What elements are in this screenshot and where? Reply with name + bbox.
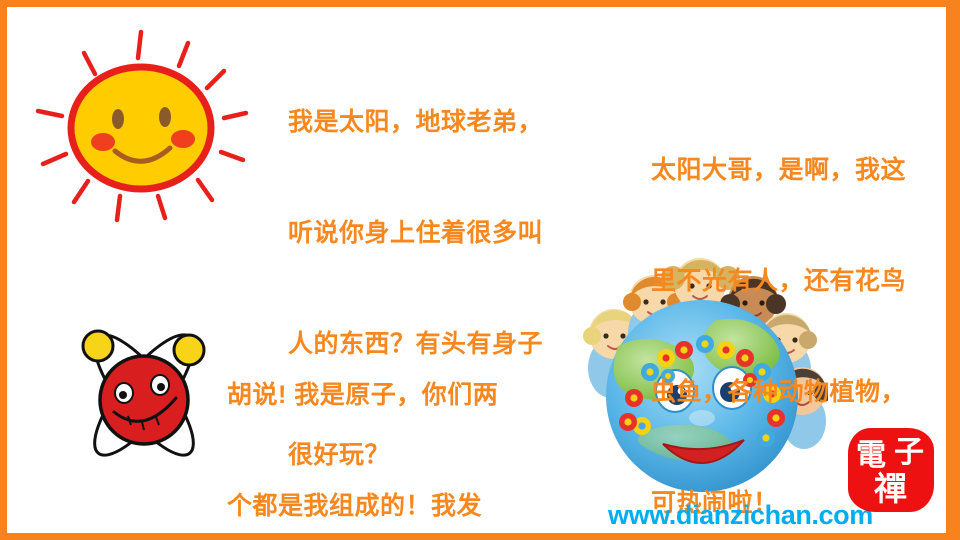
speech-earth-line-2: 里不光有人，还有花鸟 [651,263,906,300]
atom-icon [62,312,227,477]
speech-sun-line-1: 我是太阳，地球老弟， [288,104,543,141]
slide-canvas: 我是太阳，地球老弟， 听说你身上住着很多叫 人的东西？有头有身子 很好玩？ 太阳… [0,0,960,540]
website-url[interactable]: www.dianzichan.com [608,500,873,531]
speech-earth-line-1: 太阳大哥，是啊，我这 [651,152,906,189]
speech-sun-line-2: 听说你身上住着很多叫 [288,215,543,252]
sun-illustration [22,18,260,233]
speech-atom-line-1: 胡说! 我是原子，你们两 [227,377,498,414]
seal-glyph-2: 子 [894,438,924,468]
sun-icon [22,18,260,233]
frame-border-left [0,0,7,540]
atom-illustration [62,312,227,477]
seal-glyph-3: 禪 [874,472,907,505]
seal-glyph-1: 電 [856,441,886,471]
frame-border-right [946,0,960,540]
frame-border-top [0,0,960,7]
red-seal-stamp: 電 子 禪 [848,428,934,512]
speech-bubble-atom: 胡说! 我是原子，你们两 个都是我组成的！我发 誓，地球上除了圆球 球，其他啥都… [227,303,498,540]
speech-atom-line-2: 个都是我组成的！我发 [227,488,498,525]
speech-earth-line-3: 虫鱼，各种动物植物， [651,374,906,411]
